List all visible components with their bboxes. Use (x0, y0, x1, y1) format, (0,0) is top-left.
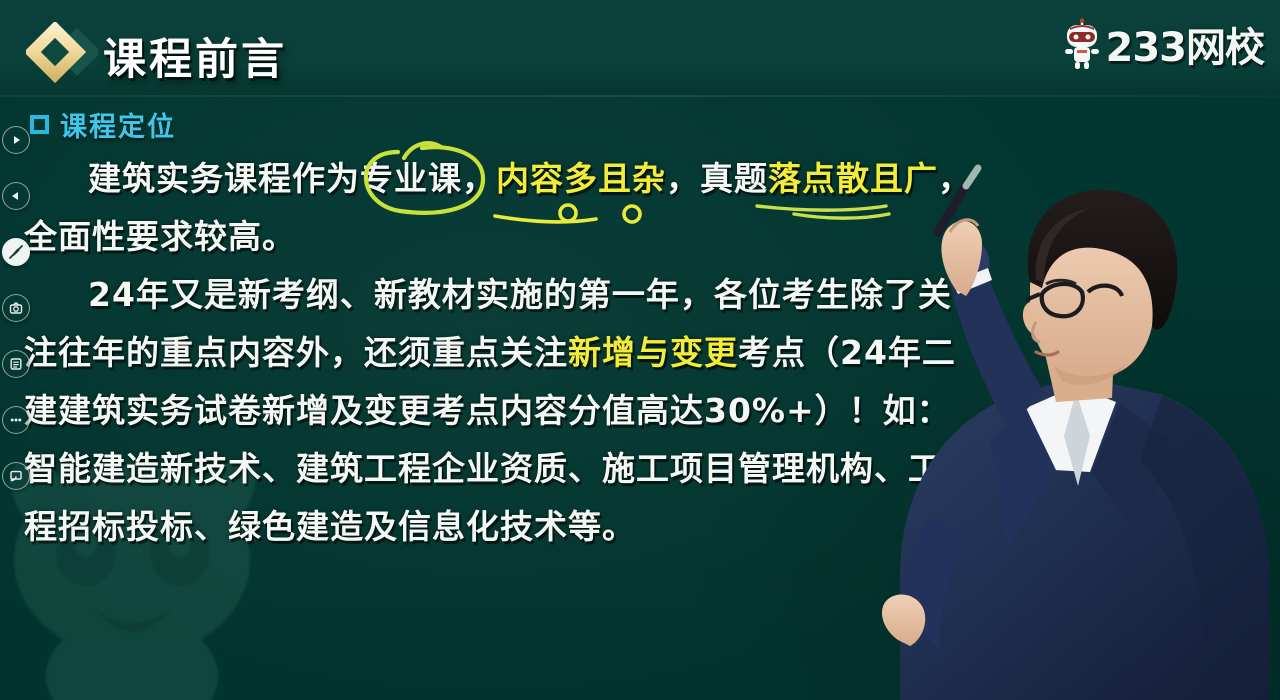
body-text-run: 程招标投标、绿色建造及信息化技术等。 (24, 507, 636, 546)
body-line: 建筑实务课程作为专业课，内容多且杂，真题落点散且广， (24, 150, 974, 208)
circled-text: 专业课 (360, 159, 462, 198)
cast-circle-icon[interactable] (2, 462, 30, 490)
body-text-run: 全面性要求较高。 (24, 217, 296, 256)
highlighted-text: 内容多且杂 (496, 159, 666, 198)
body-text-run: ， (462, 159, 496, 198)
back-circle-icon[interactable] (2, 182, 30, 210)
body-text-run: 注往年的重点内容外，还须重点关注 (24, 333, 568, 372)
slide-body-text: 建筑实务课程作为专业课，内容多且杂，真题落点散且广，全面性要求较高。24年又是新… (24, 150, 974, 556)
square-outline-icon (30, 115, 49, 134)
highlighted-text: 落点散且广 (768, 159, 938, 198)
play-circle-icon[interactable] (2, 126, 30, 154)
body-text-run: 建建筑实务试卷新增及变更考点内容分值高达30%+）！如： (24, 391, 951, 430)
camera-circle-icon[interactable] (2, 294, 30, 322)
robot-mascot-icon (1064, 18, 1100, 70)
pen-slash-icon[interactable] (2, 238, 30, 266)
body-line: 建建筑实务试卷新增及变更考点内容分值高达30%+）！如： (24, 382, 974, 440)
brand-logo: 233网校 (1064, 16, 1265, 72)
lecture-slide-stage: 课程前言 233网校 课程定位 建筑实务课程作为 (0, 0, 1280, 700)
diamond-logo-icon (26, 22, 98, 88)
body-line: 注往年的重点内容外，还须重点关注新增与变更考点（24年二 (24, 324, 974, 382)
more-dots-icon[interactable] (2, 406, 30, 434)
body-text-run: 考点（24年二 (738, 333, 956, 372)
body-text-run: ， (938, 159, 972, 198)
page-title: 课程前言 (103, 25, 287, 87)
body-line: 24年又是新考纲、新教材实施的第一年，各位考生除了关 (24, 266, 974, 324)
body-text-run: 智能建造新技术、建筑工程企业资质、施工项目管理机构、工 (24, 449, 942, 488)
highlighted-text: 新增与变更 (568, 333, 738, 372)
note-circle-icon[interactable] (2, 350, 30, 378)
slide-header: 课程前言 233网校 (0, 0, 1280, 97)
player-toolbar[interactable] (2, 126, 32, 490)
body-line: 全面性要求较高。 (24, 208, 974, 266)
body-line: 程招标投标、绿色建造及信息化技术等。 (24, 498, 974, 556)
body-text-run: ，真题 (666, 159, 768, 198)
subheading: 课程定位 (30, 105, 176, 144)
body-line: 智能建造新技术、建筑工程企业资质、施工项目管理机构、工 (24, 440, 974, 498)
body-text-run: 建筑实务课程作为 (88, 159, 360, 198)
presenter-head (1023, 190, 1178, 385)
body-text-run: 24年又是新考纲、新教材实施的第一年，各位考生除了关 (88, 275, 952, 314)
subheading-label: 课程定位 (60, 105, 176, 144)
brand-name: 233网校 (1106, 15, 1265, 73)
